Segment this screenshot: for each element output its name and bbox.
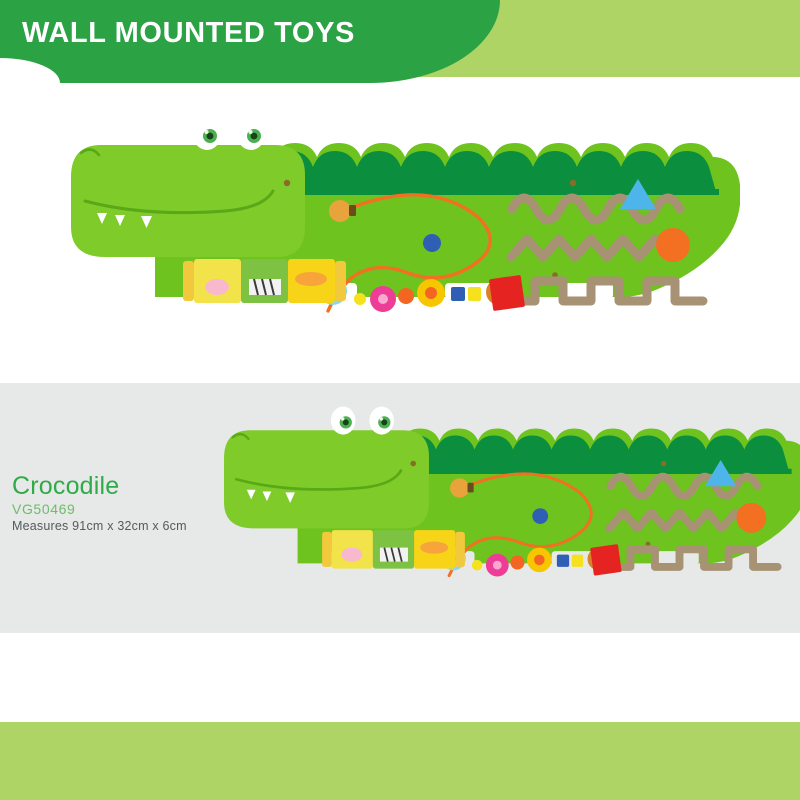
pink-flower-bead[interactable] <box>486 554 509 577</box>
crocodile-eye-left <box>193 118 221 150</box>
yellow-small-bead[interactable] <box>354 293 366 305</box>
square-slider[interactable] <box>489 275 525 311</box>
crocodile-svg-detail <box>210 395 800 610</box>
roller-picture-1 <box>341 548 362 562</box>
roller-endcap-right <box>455 532 465 567</box>
square-slider[interactable] <box>590 544 622 576</box>
roller-endcap-left <box>322 532 332 567</box>
pink-flower-bead[interactable] <box>370 286 396 312</box>
crocodile-svg <box>55 105 740 350</box>
knob-collar <box>349 205 356 216</box>
header-banner: WALL MOUNTED TOYS <box>0 0 800 83</box>
yellow-small-bead[interactable] <box>472 560 483 571</box>
crocodile-head <box>224 430 429 528</box>
yellow-cube-bead[interactable] <box>572 555 583 567</box>
yellow-flower-bead[interactable] <box>417 279 445 307</box>
crocodile-eye-left <box>331 407 356 435</box>
knob-collar <box>468 483 474 493</box>
crocodile-toy-main-image <box>55 105 740 350</box>
roller-endcap-left <box>183 261 194 301</box>
blue-cube-bead[interactable] <box>557 555 569 567</box>
footer-band <box>0 722 800 800</box>
crocodile-toy-detail-image <box>210 395 800 610</box>
roller-picture-1 <box>205 279 229 295</box>
wooden-knob-bead[interactable] <box>450 478 469 497</box>
blue-cube-bead[interactable] <box>451 287 465 301</box>
wooden-knob-bead[interactable] <box>329 200 351 222</box>
orange-small-bead[interactable] <box>398 288 414 304</box>
blue-bead[interactable] <box>423 234 441 252</box>
crocodile-eye-right <box>369 407 394 435</box>
roller-endcap-right <box>335 261 346 301</box>
blue-bead[interactable] <box>532 508 548 524</box>
page-title: WALL MOUNTED TOYS <box>22 17 355 50</box>
circle-slider[interactable] <box>736 503 766 533</box>
yellow-cube-bead[interactable] <box>468 287 481 301</box>
crocodile-eye-right <box>237 118 265 150</box>
crocodile-head <box>71 145 305 257</box>
circle-slider[interactable] <box>656 228 690 262</box>
roller-blocks-group <box>183 259 346 303</box>
yellow-flower-bead[interactable] <box>527 548 552 573</box>
roller-blocks-group <box>322 530 465 569</box>
roller-picture-3 <box>420 541 448 553</box>
roller-picture-3 <box>295 272 327 286</box>
orange-small-bead[interactable] <box>510 555 524 569</box>
